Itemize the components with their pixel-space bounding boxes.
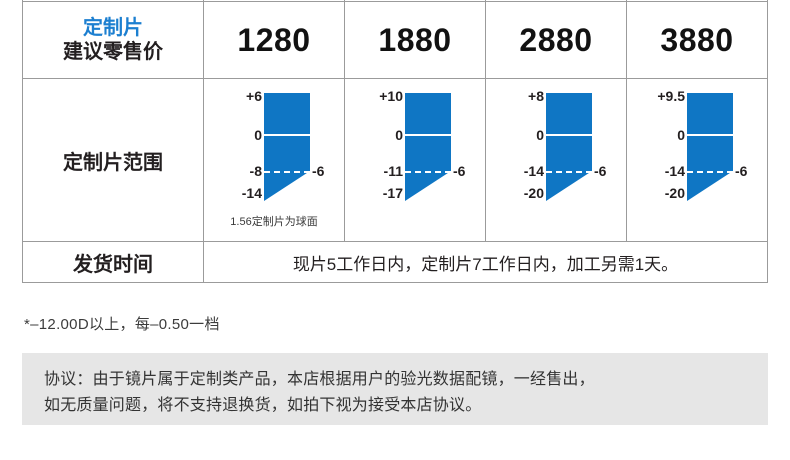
table-row-shipping: 发货时间 现片5工作日内，定制片7工作日内，加工另需1天。 — [23, 242, 768, 283]
price-header-msrp-label: 建议零售价 — [23, 40, 203, 64]
chart-dashed-line-2 — [405, 171, 451, 173]
table-row-price: 定制片 建议零售价 1280 1880 2880 3880 — [23, 2, 768, 79]
chart-label-right-3: -6 — [594, 164, 606, 178]
chart-dashed-line-3 — [546, 171, 592, 173]
chart-label-mid-3: -14 — [524, 164, 544, 178]
chart-label-zero-3: 0 — [536, 128, 544, 142]
chart-zero-line-4 — [687, 134, 733, 136]
lens-spec-table: 定制片 建议零售价 1280 1880 2880 3880 定制片范围 +6 0… — [22, 0, 768, 283]
chart-zero-line-3 — [546, 134, 592, 136]
price-value-3: 2880 — [486, 2, 627, 79]
chart-dashed-line-1 — [264, 171, 310, 173]
agreement-line-1: 协议：由于镜片属于定制类产品，本店根据用户的验光数据配镜，一经售出， — [44, 367, 746, 393]
chart-label-mid-1: -8 — [250, 164, 262, 178]
table-row-range: 定制片范围 +6 0 -8 -14 -6 1.56定制片为球面 — [23, 79, 768, 242]
prescription-range-chart-4: +9.5 0 -14 -20 -6 — [631, 79, 763, 241]
price-row-header: 定制片 建议零售价 — [23, 2, 204, 79]
price-value-2: 1880 — [345, 2, 486, 79]
chart-label-bottom-1: -14 — [242, 186, 262, 200]
chart-shape-1 — [264, 93, 310, 201]
chart-label-bottom-3: -20 — [524, 186, 544, 200]
shipping-row-header: 发货时间 — [23, 242, 204, 283]
range-chart-cell-4: +9.5 0 -14 -20 -6 — [627, 79, 768, 242]
chart-label-mid-4: -14 — [665, 164, 685, 178]
chart-label-zero-1: 0 — [254, 128, 262, 142]
chart-label-right-2: -6 — [453, 164, 465, 178]
price-value-4: 3880 — [627, 2, 768, 79]
footnote-text: *–12.00D以上，每–0.50一档 — [24, 313, 220, 334]
chart-label-bottom-2: -17 — [383, 186, 403, 200]
chart-zero-line-2 — [405, 134, 451, 136]
agreement-box: 协议：由于镜片属于定制类产品，本店根据用户的验光数据配镜，一经售出， 如无质量问… — [22, 353, 768, 425]
chart-shape-2 — [405, 93, 451, 201]
range-chart-cell-3: +8 0 -14 -20 -6 — [486, 79, 627, 242]
chart-label-zero-4: 0 — [677, 128, 685, 142]
prescription-range-chart-3: +8 0 -14 -20 -6 — [490, 79, 622, 241]
prescription-range-chart-1: +6 0 -8 -14 -6 1.56定制片为球面 — [208, 79, 340, 241]
prescription-range-chart-2: +10 0 -11 -17 -6 — [349, 79, 481, 241]
chart-label-mid-2: -11 — [384, 164, 403, 178]
chart-label-top-2: +10 — [379, 89, 403, 103]
range-chart-cell-1: +6 0 -8 -14 -6 1.56定制片为球面 — [204, 79, 345, 242]
chart-shape-4 — [687, 93, 733, 201]
chart-zero-line-1 — [264, 134, 310, 136]
chart-label-bottom-4: -20 — [665, 186, 685, 200]
chart-label-top-1: +6 — [246, 89, 262, 103]
chart-label-zero-2: 0 — [395, 128, 403, 142]
range-chart-cell-2: +10 0 -11 -17 -6 — [345, 79, 486, 242]
chart-shape-3 — [546, 93, 592, 201]
chart-label-top-4: +9.5 — [657, 89, 685, 103]
chart-caption-1: 1.56定制片为球面 — [208, 213, 340, 229]
shipping-row-value: 现片5工作日内，定制片7工作日内，加工另需1天。 — [204, 242, 768, 283]
range-row-header: 定制片范围 — [23, 79, 204, 242]
chart-label-right-1: -6 — [312, 164, 324, 178]
chart-label-top-3: +8 — [528, 89, 544, 103]
price-header-custom-label: 定制片 — [23, 16, 203, 40]
chart-dashed-line-4 — [687, 171, 733, 173]
chart-label-right-4: -6 — [735, 164, 747, 178]
price-value-1: 1280 — [204, 2, 345, 79]
agreement-line-2: 如无质量问题，将不支持退换货，如拍下视为接受本店协议。 — [44, 393, 746, 419]
